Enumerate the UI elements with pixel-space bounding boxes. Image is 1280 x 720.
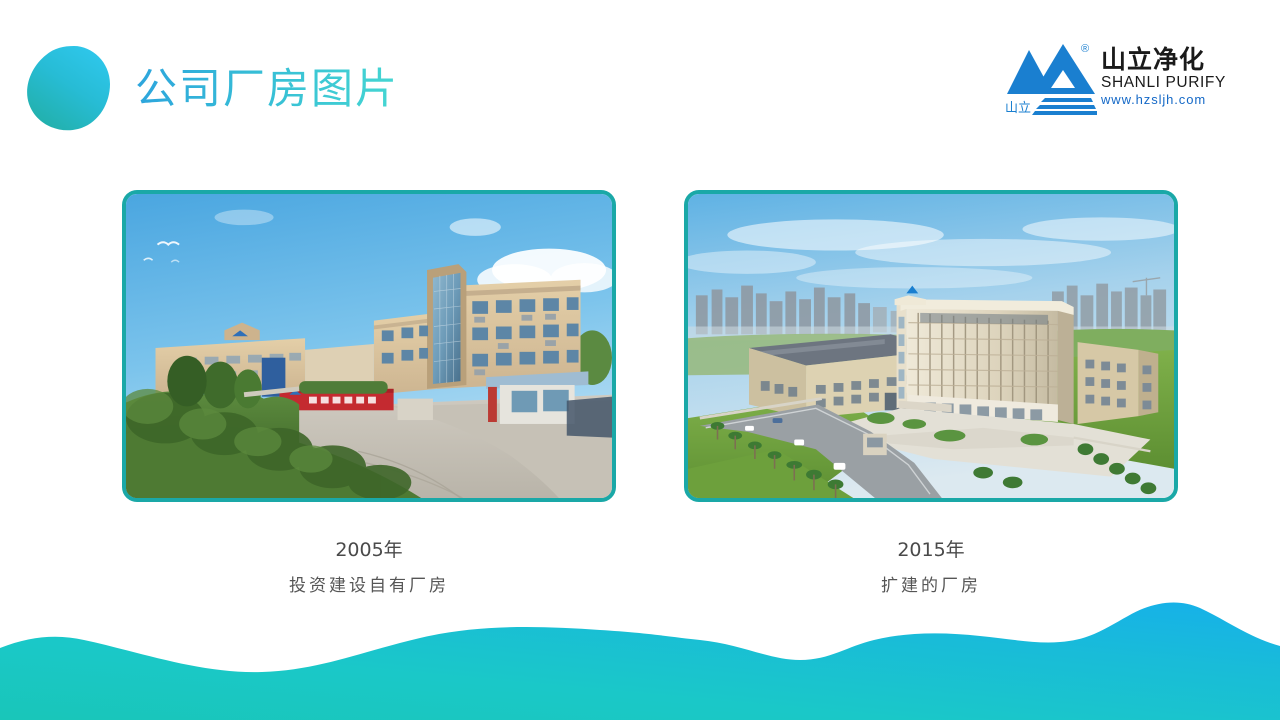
logo-company-en: SHANLI PURIFY bbox=[1101, 74, 1223, 92]
photo-card-2005: 2005年 投资建设自有厂房 bbox=[122, 190, 616, 610]
factory-photo-2005[interactable] bbox=[122, 190, 616, 502]
blob-shape-icon bbox=[26, 44, 112, 132]
slide-root: 公司厂房图片 山立 ® bbox=[0, 0, 1280, 720]
logo-text-block: 山立净化 SHANLI PURIFY www.hzsljh.com bbox=[1101, 46, 1223, 108]
factory-photo-2015[interactable] bbox=[684, 190, 1178, 502]
page-title: 公司厂房图片 bbox=[135, 62, 399, 116]
bottom-wave-decoration bbox=[0, 590, 1280, 720]
photo-card-2015: 2015年 扩建的厂房 bbox=[684, 190, 1178, 610]
svg-text:®: ® bbox=[1081, 43, 1089, 55]
slide-header: 公司厂房图片 山立 ® bbox=[0, 0, 1280, 150]
caption-year-2005: 2005年 bbox=[122, 538, 616, 562]
svg-text:山立: 山立 bbox=[1005, 101, 1031, 116]
company-logo: 山立 ® 山立净化 SHANLI PURIFY www.hzsljh.com bbox=[1005, 40, 1220, 120]
caption-year-2015: 2015年 bbox=[684, 538, 1178, 562]
logo-company-cn: 山立净化 bbox=[1101, 46, 1223, 74]
shanli-mountain-mark-icon: 山立 ® bbox=[1005, 40, 1097, 118]
logo-website: www.hzsljh.com bbox=[1101, 92, 1223, 108]
